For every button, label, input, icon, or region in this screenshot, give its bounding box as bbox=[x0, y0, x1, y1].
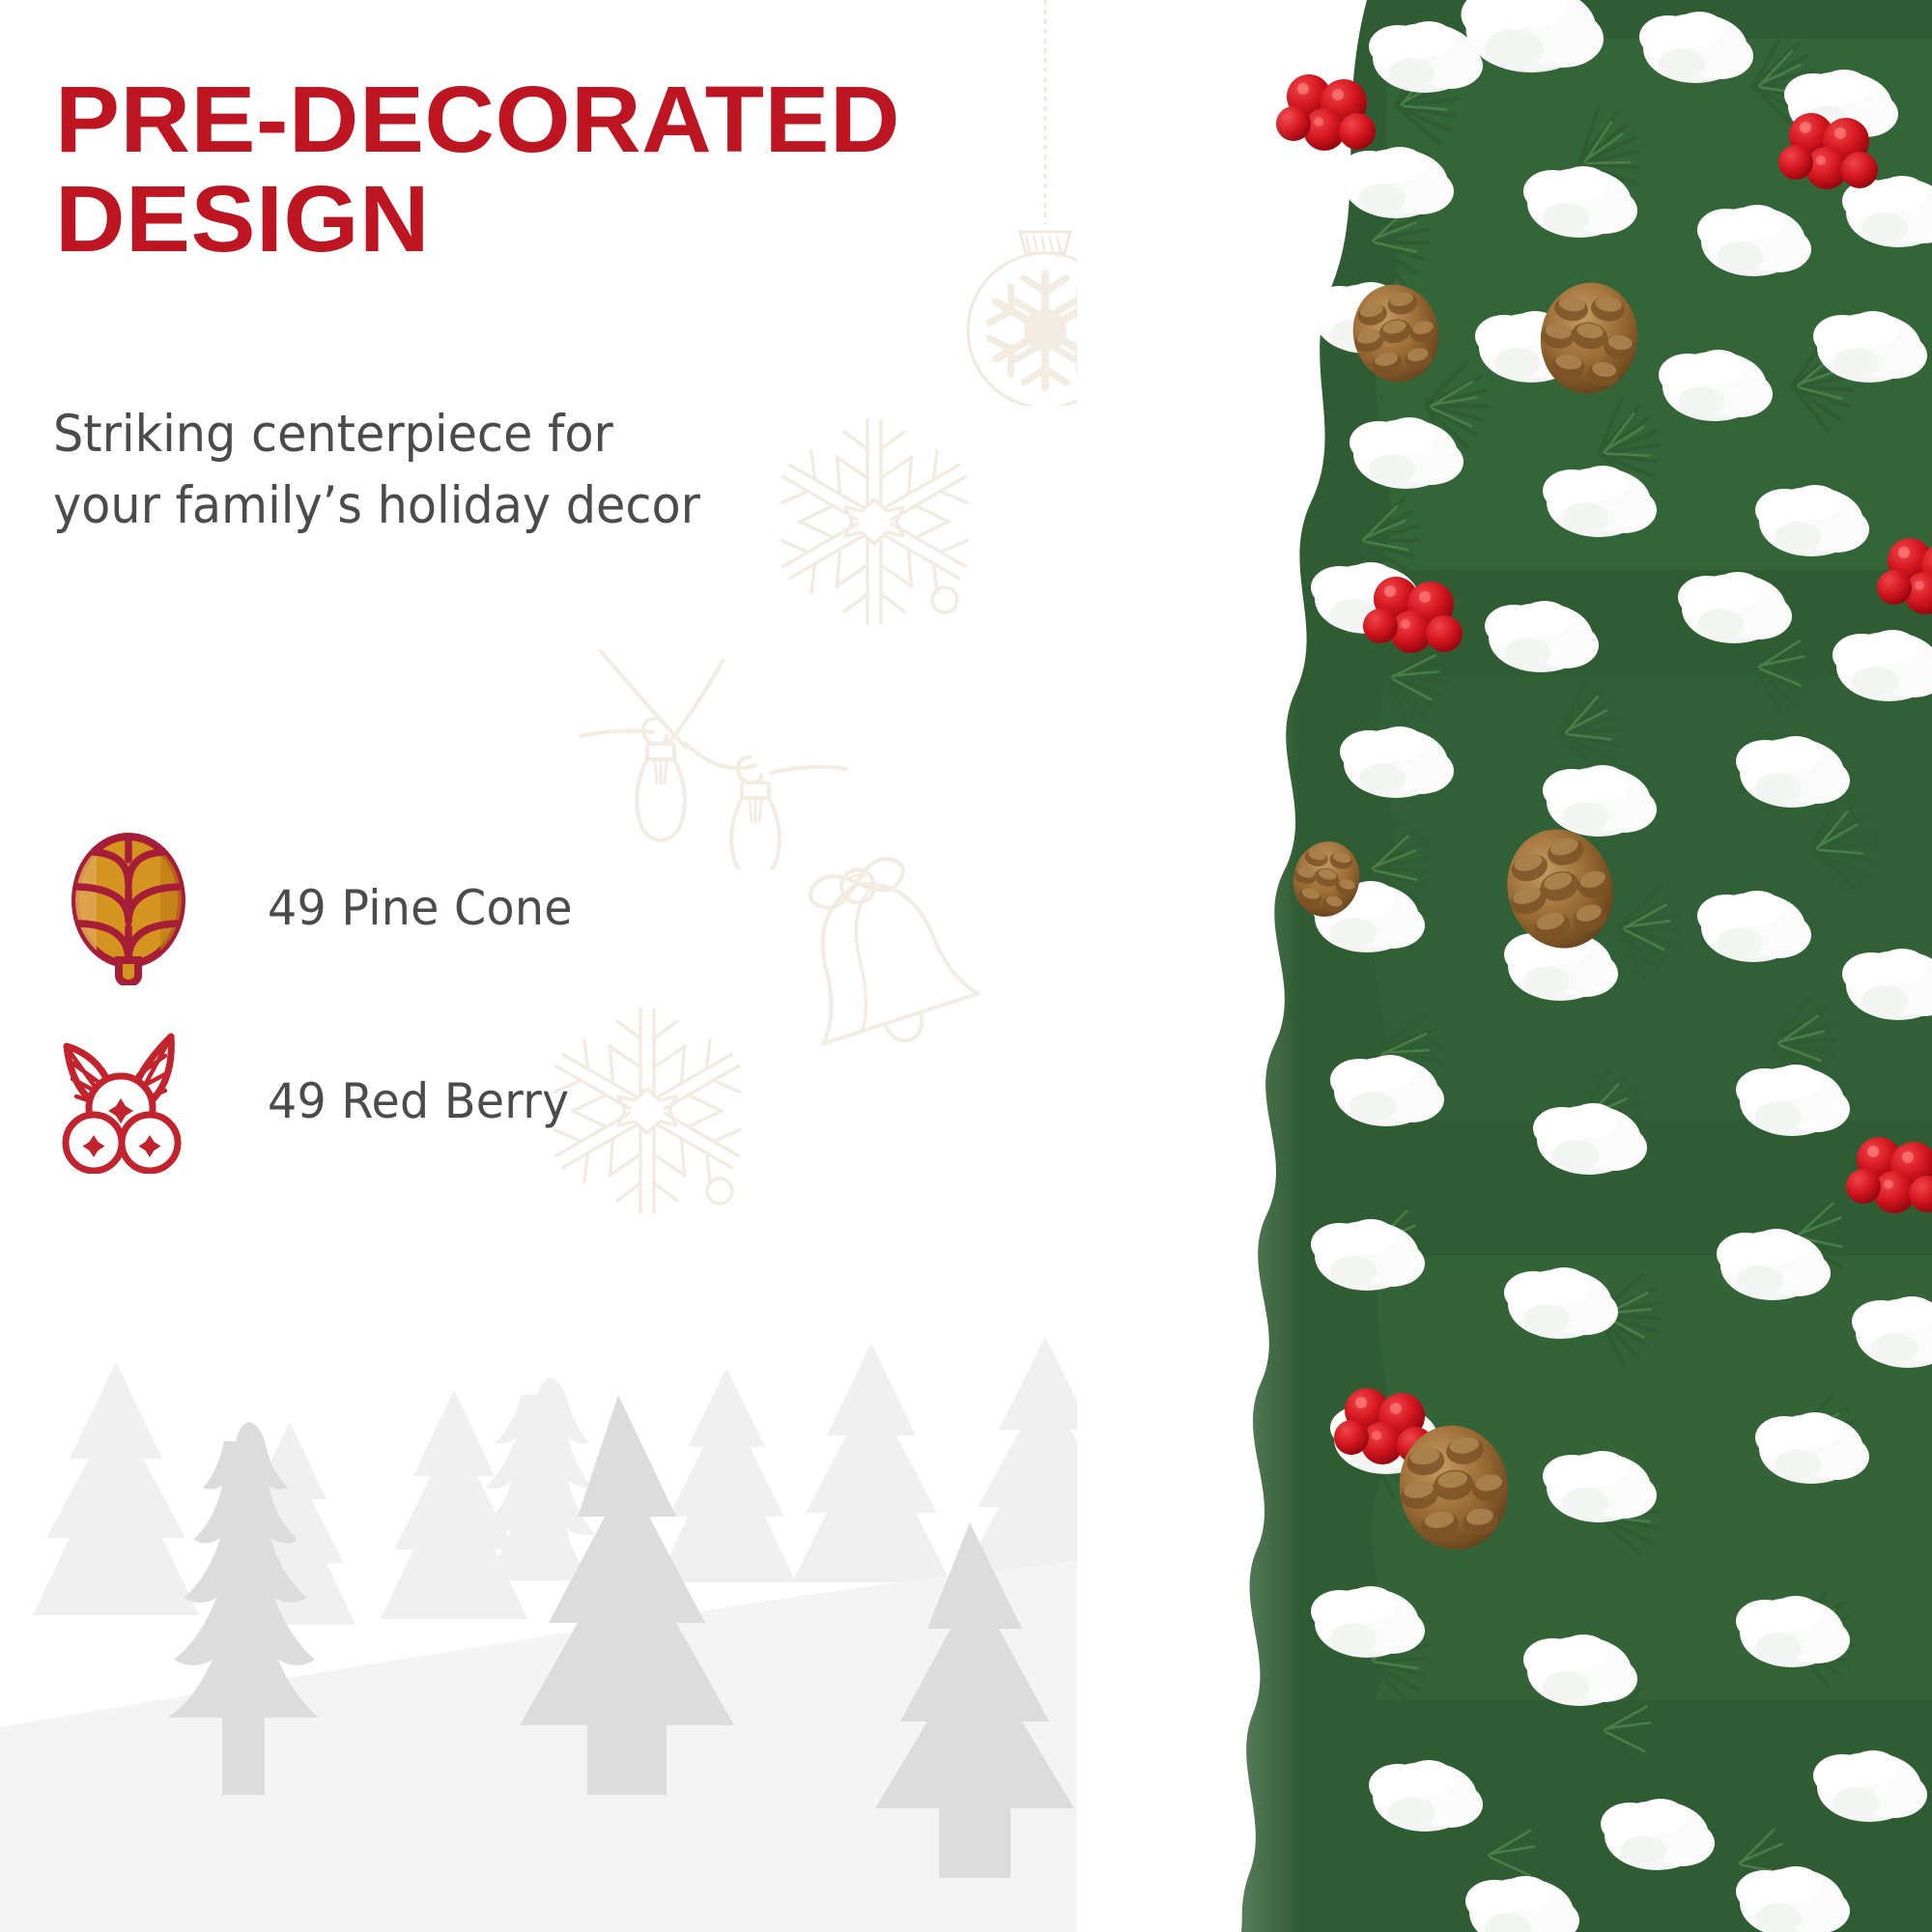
feature-list: 49 Pine Cone bbox=[58, 811, 792, 1198]
feature-label-red-berry: 49 Red Berry bbox=[268, 1073, 569, 1129]
feature-label-pine-cone: 49 Pine Cone bbox=[268, 880, 573, 936]
page-subtitle: Striking centerpiece for your family’s h… bbox=[53, 399, 862, 542]
red-berry-icon bbox=[58, 1022, 198, 1181]
page-title: PRE-DECORATED DESIGN bbox=[55, 71, 1115, 270]
flocked-christmas-tree-photo bbox=[1077, 0, 1932, 1932]
pine-cone-icon bbox=[58, 829, 198, 988]
subtitle-line-1: Striking centerpiece for bbox=[53, 399, 862, 470]
marketing-banner: PRE-DECORATED DESIGN Striking centerpiec… bbox=[0, 0, 1932, 1932]
subtitle-line-2: your family’s holiday decor bbox=[53, 470, 862, 542]
feature-item-red-berry: 49 Red Berry bbox=[58, 1005, 792, 1198]
headline-line-1: PRE-DECORATED bbox=[55, 71, 1115, 170]
content-panel: PRE-DECORATED DESIGN Striking centerpiec… bbox=[0, 0, 1159, 1932]
headline-line-2: DESIGN bbox=[55, 170, 1115, 270]
feature-item-pine-cone: 49 Pine Cone bbox=[58, 811, 792, 1005]
